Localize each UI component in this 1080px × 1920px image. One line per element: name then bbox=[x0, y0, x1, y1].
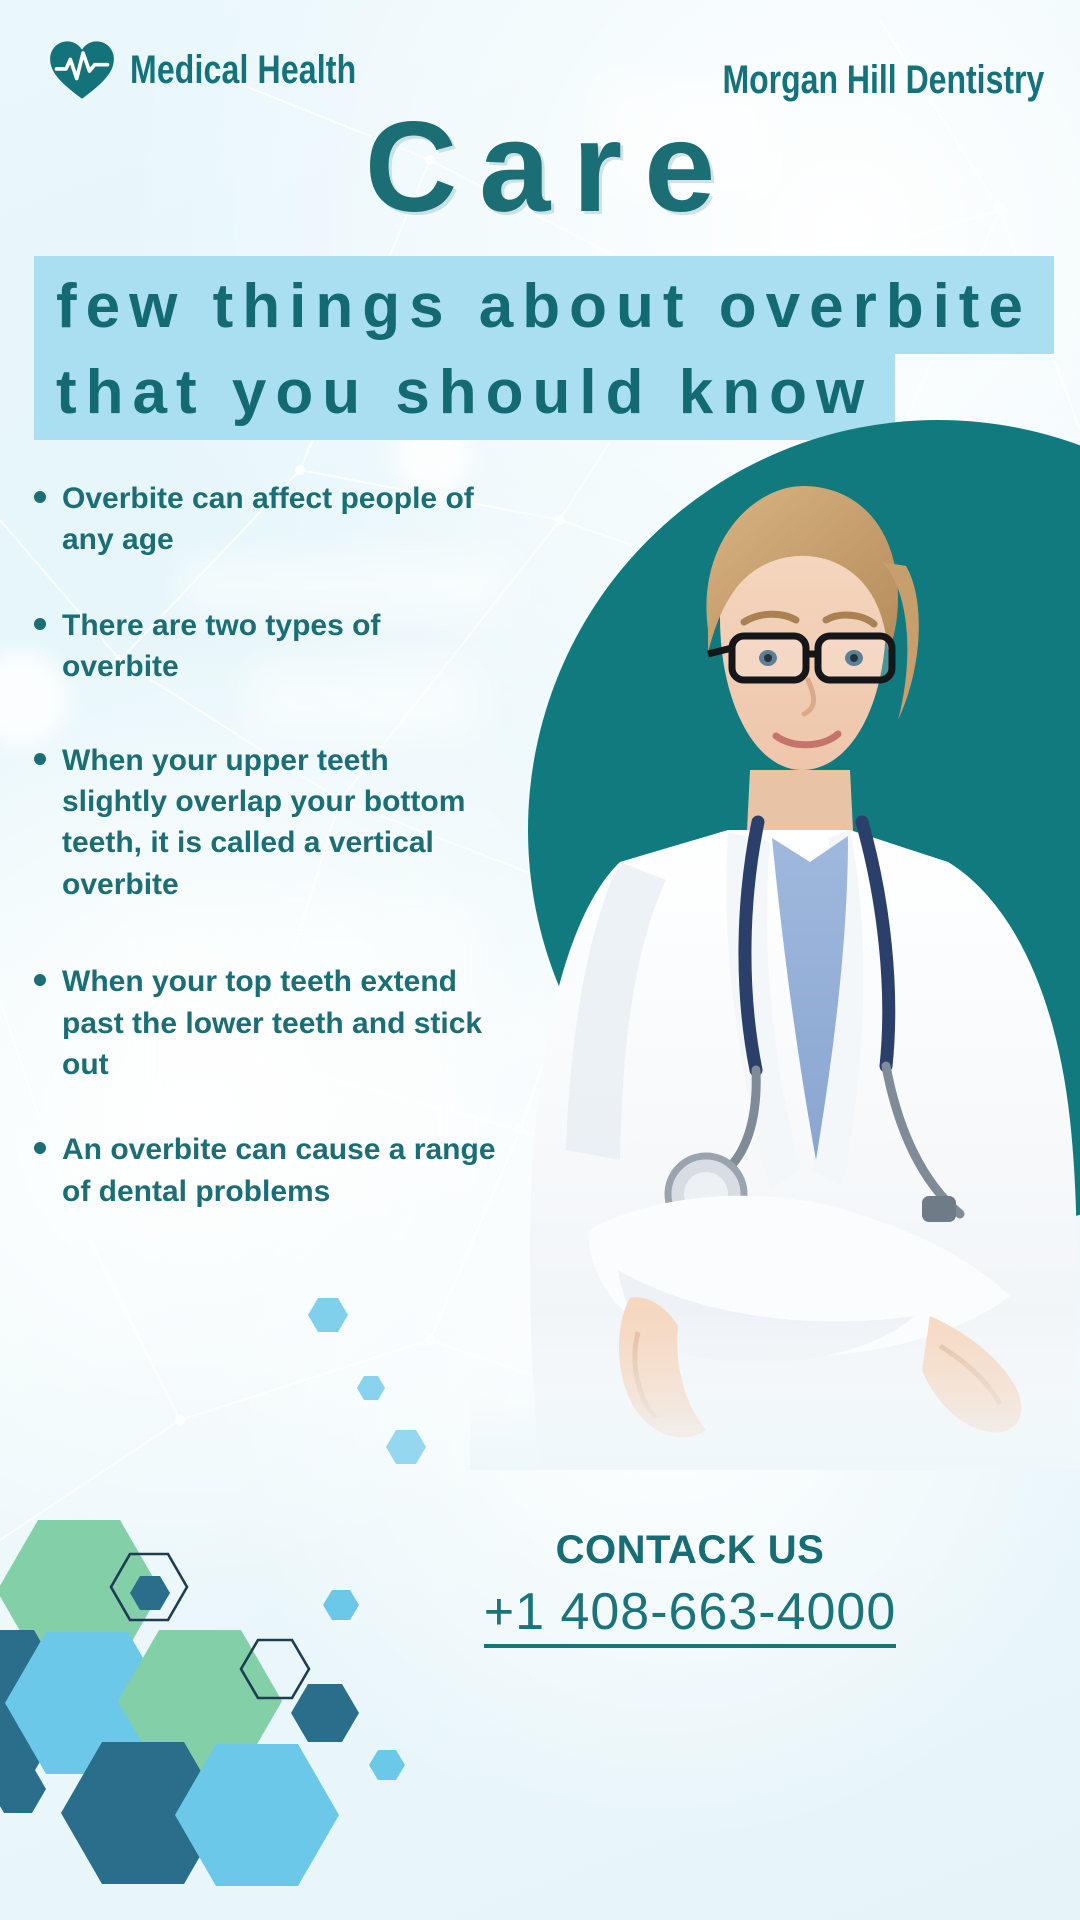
bullet-dot-icon bbox=[34, 974, 46, 986]
hexagon-pattern bbox=[0, 1480, 440, 1920]
list-item: Overbite can affect people of any age bbox=[28, 478, 498, 561]
bullet-text: When your upper teeth slightly overlap y… bbox=[62, 740, 498, 906]
bullet-text: When your top teeth extend past the lowe… bbox=[62, 961, 498, 1085]
contact-label: CONTACK US bbox=[430, 1528, 950, 1572]
contact-block: CONTACK US +1 408-663-4000 bbox=[430, 1528, 950, 1648]
doctor-photo bbox=[470, 470, 1080, 1470]
list-item: There are two types of overbite bbox=[28, 605, 498, 688]
poster-canvas: Medical Health Morgan Hill Dentistry Car… bbox=[0, 0, 1080, 1920]
hexagon-accents bbox=[300, 1280, 440, 1480]
list-item: When your upper teeth slightly overlap y… bbox=[28, 740, 498, 906]
subtitle-block: few things about overbite that you shoul… bbox=[34, 256, 1054, 440]
hexagon-accent-2 bbox=[357, 1376, 385, 1400]
page-title: Care bbox=[0, 104, 1080, 232]
brand-lockup: Medical Health bbox=[48, 38, 413, 102]
hexagon-tiny-right bbox=[323, 1590, 359, 1620]
phone-number-link[interactable]: +1 408-663-4000 bbox=[484, 1582, 897, 1648]
hexagon-darkblue-small-left bbox=[0, 1765, 46, 1813]
hexagon-darkblue-small-right bbox=[291, 1684, 359, 1742]
bullet-text: An overbite can cause a range of dental … bbox=[62, 1129, 498, 1212]
heart-pulse-icon bbox=[48, 38, 116, 102]
brand-name: Medical Health bbox=[130, 48, 356, 93]
practice-name: Morgan Hill Dentistry bbox=[722, 58, 1044, 103]
hexagon-accent-1 bbox=[308, 1298, 348, 1332]
subtitle-line-1: few things about overbite bbox=[34, 256, 1054, 354]
list-item: When your top teeth extend past the lowe… bbox=[28, 961, 498, 1085]
bullet-text: There are two types of overbite bbox=[62, 605, 498, 688]
bullet-dot-icon bbox=[34, 491, 46, 503]
bullet-list: Overbite can affect people of any age Th… bbox=[28, 478, 498, 1212]
hexagon-accent-3 bbox=[386, 1430, 426, 1464]
bullet-dot-icon bbox=[34, 753, 46, 765]
bullet-text: Overbite can affect people of any age bbox=[62, 478, 498, 561]
bullet-dot-icon bbox=[34, 618, 46, 630]
subtitle-line-2: that you should know bbox=[34, 354, 895, 440]
list-item: An overbite can cause a range of dental … bbox=[28, 1129, 498, 1212]
bullet-dot-icon bbox=[34, 1142, 46, 1154]
hexagon-tiny-far-right bbox=[369, 1750, 405, 1780]
